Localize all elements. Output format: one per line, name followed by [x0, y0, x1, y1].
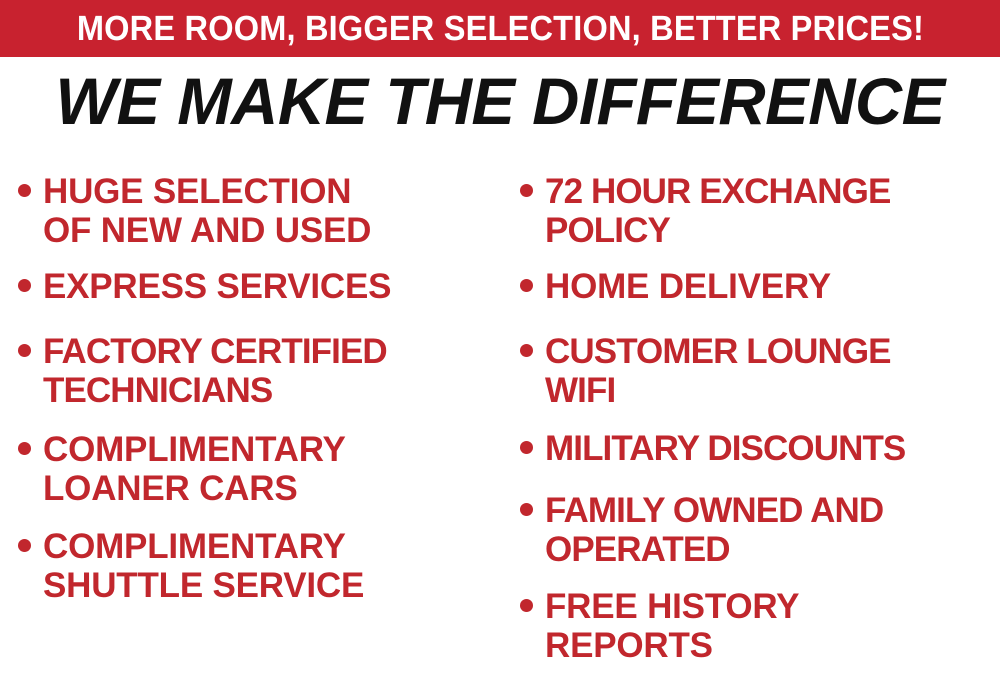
benefit-item: COMPLIMENTARY LOANER CARS: [18, 430, 346, 508]
benefit-label: FREE HISTORY REPORTS: [545, 587, 799, 665]
top-banner: MORE ROOM, BIGGER SELECTION, BETTER PRIC…: [0, 0, 1000, 57]
bullet-icon: [18, 442, 31, 455]
bullet-icon: [18, 344, 31, 357]
benefit-item: 72 HOUR EXCHANGE POLICY: [520, 172, 890, 250]
bullet-icon: [18, 279, 31, 292]
benefit-item: CUSTOMER LOUNGE WIFI: [520, 332, 891, 410]
benefit-label: CUSTOMER LOUNGE WIFI: [545, 332, 891, 410]
benefit-label: MILITARY DISCOUNTS: [545, 429, 905, 468]
benefit-item: FAMILY OWNED AND OPERATED: [520, 491, 883, 569]
benefits-section: HUGE SELECTION OF NEW AND USED EXPRESS S…: [0, 160, 1000, 694]
benefits-right-column: 72 HOUR EXCHANGE POLICY HOME DELIVERY CU…: [520, 160, 1000, 694]
bullet-icon: [520, 184, 533, 197]
benefit-item: FREE HISTORY REPORTS: [520, 587, 799, 665]
benefit-item: EXPRESS SERVICES: [18, 267, 391, 306]
benefit-label: COMPLIMENTARY LOANER CARS: [43, 430, 346, 508]
benefit-label: COMPLIMENTARY SHUTTLE SERVICE: [43, 527, 364, 605]
benefit-item: FACTORY CERTIFIED TECHNICIANS: [18, 332, 387, 410]
benefit-label: FAMILY OWNED AND OPERATED: [545, 491, 883, 569]
bullet-icon: [520, 441, 533, 454]
benefit-label: HOME DELIVERY: [545, 267, 831, 306]
top-banner-text: MORE ROOM, BIGGER SELECTION, BETTER PRIC…: [76, 11, 923, 47]
page-title: WE MAKE THE DIFFERENCE: [5, 66, 995, 136]
bullet-icon: [520, 344, 533, 357]
benefit-label: FACTORY CERTIFIED TECHNICIANS: [43, 332, 387, 410]
benefit-item: COMPLIMENTARY SHUTTLE SERVICE: [18, 527, 364, 605]
benefits-left-column: HUGE SELECTION OF NEW AND USED EXPRESS S…: [18, 160, 498, 694]
bullet-icon: [18, 184, 31, 197]
benefit-label: EXPRESS SERVICES: [43, 267, 391, 306]
bullet-icon: [520, 279, 533, 292]
benefit-item: HUGE SELECTION OF NEW AND USED: [18, 172, 371, 250]
benefit-label: 72 HOUR EXCHANGE POLICY: [545, 172, 890, 250]
bullet-icon: [520, 503, 533, 516]
bullet-icon: [520, 599, 533, 612]
bullet-icon: [18, 539, 31, 552]
benefit-item: MILITARY DISCOUNTS: [520, 429, 905, 468]
benefit-label: HUGE SELECTION OF NEW AND USED: [43, 172, 371, 250]
benefit-item: HOME DELIVERY: [520, 267, 831, 306]
